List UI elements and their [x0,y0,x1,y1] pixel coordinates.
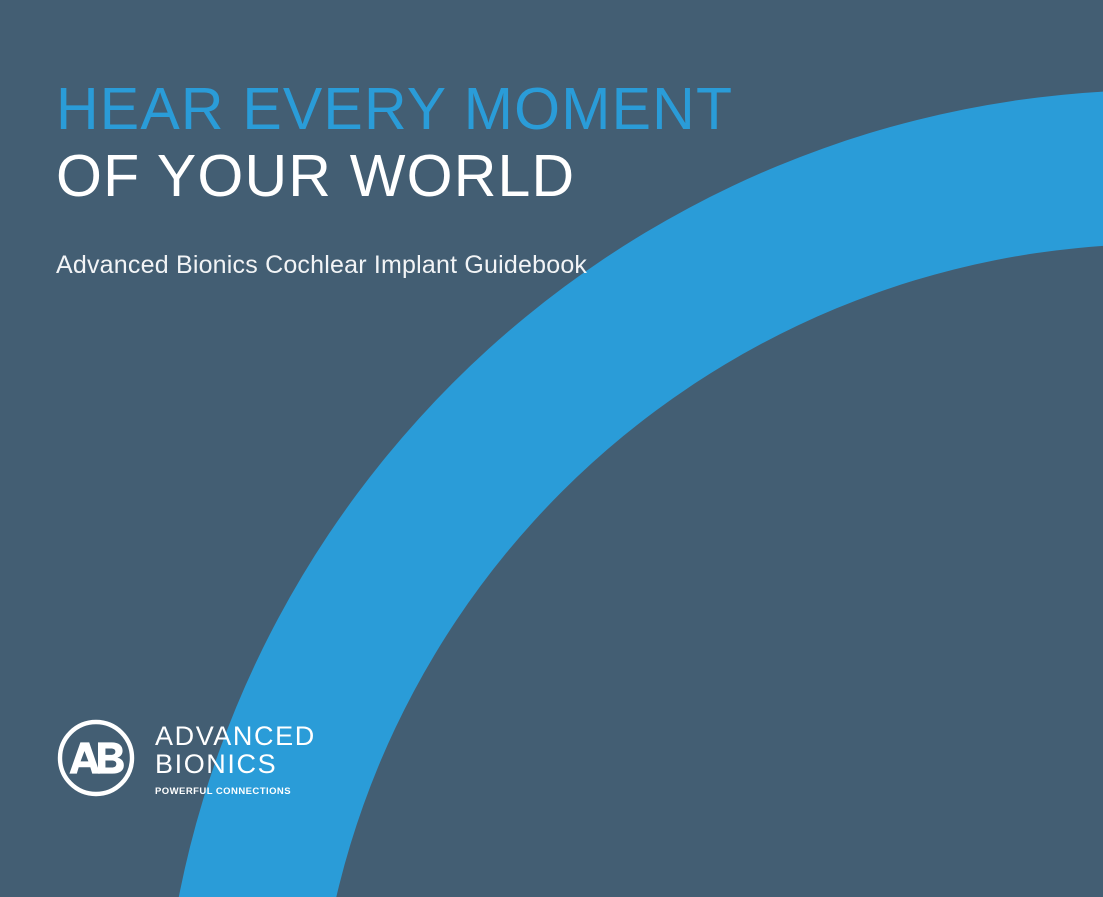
advanced-bionics-logo: ADVANCED BIONICS POWERFUL CONNECTIONS [56,718,316,798]
logo-wordmark: ADVANCED BIONICS POWERFUL CONNECTIONS [155,718,316,797]
ab-monogram-icon [56,718,136,798]
cover-headline-block: HEAR EVERY MOMENT OF YOUR WORLD Advanced… [56,80,733,280]
logo-name-line-1: ADVANCED [155,723,316,751]
logo-name-line-2: BIONICS [155,751,316,779]
cover-page: HEAR EVERY MOMENT OF YOUR WORLD Advanced… [0,0,1103,897]
headline-line-1: HEAR EVERY MOMENT [56,80,733,139]
logo-tagline: POWERFUL CONNECTIONS [155,786,316,797]
headline-line-2: OF YOUR WORLD [56,147,733,206]
cover-subtitle: Advanced Bionics Cochlear Implant Guideb… [56,206,733,280]
